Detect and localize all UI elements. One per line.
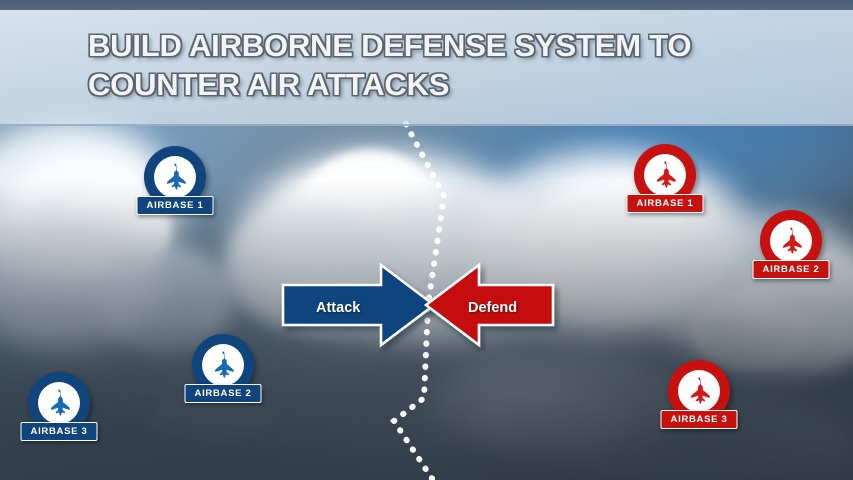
top-accent-rail [0, 0, 853, 10]
marker-red-airbase-1[interactable]: AIRBASE 1 [634, 144, 696, 206]
pin-inner-circle [644, 154, 686, 196]
slide-title: BUILD AIRBORNE DEFENSE SYSTEM TO COUNTER… [88, 26, 813, 105]
fighter-jet-icon [776, 226, 806, 256]
pin-inner-circle [678, 370, 720, 412]
fighter-jet-icon [650, 160, 680, 190]
marker-label: AIRBASE 1 [627, 194, 704, 213]
defend-arrow-label: Defend [468, 300, 517, 316]
slide-canvas: Attack Defend BUILD AIRBORNE DEFENSE SYS… [0, 0, 853, 480]
pin-inner-circle [38, 382, 80, 424]
fighter-jet-icon [160, 162, 190, 192]
marker-label: AIRBASE 2 [185, 384, 262, 403]
marker-blue-airbase-1[interactable]: AIRBASE 1 [144, 146, 206, 208]
marker-label: AIRBASE 2 [753, 260, 830, 279]
pin-inner-circle [202, 344, 244, 386]
attack-arrow-label: Attack [316, 300, 360, 316]
pin-inner-circle [154, 156, 196, 198]
pin-inner-circle [770, 220, 812, 262]
marker-label: AIRBASE 1 [137, 196, 214, 215]
marker-label: AIRBASE 3 [661, 410, 738, 429]
marker-blue-airbase-2[interactable]: AIRBASE 2 [192, 334, 254, 396]
marker-label: AIRBASE 3 [21, 422, 98, 441]
fighter-jet-icon [684, 376, 714, 406]
marker-red-airbase-2[interactable]: AIRBASE 2 [760, 210, 822, 272]
fighter-jet-icon [208, 350, 238, 380]
marker-blue-airbase-3[interactable]: AIRBASE 3 [28, 372, 90, 434]
marker-red-airbase-3[interactable]: AIRBASE 3 [668, 360, 730, 422]
fighter-jet-icon [44, 388, 74, 418]
